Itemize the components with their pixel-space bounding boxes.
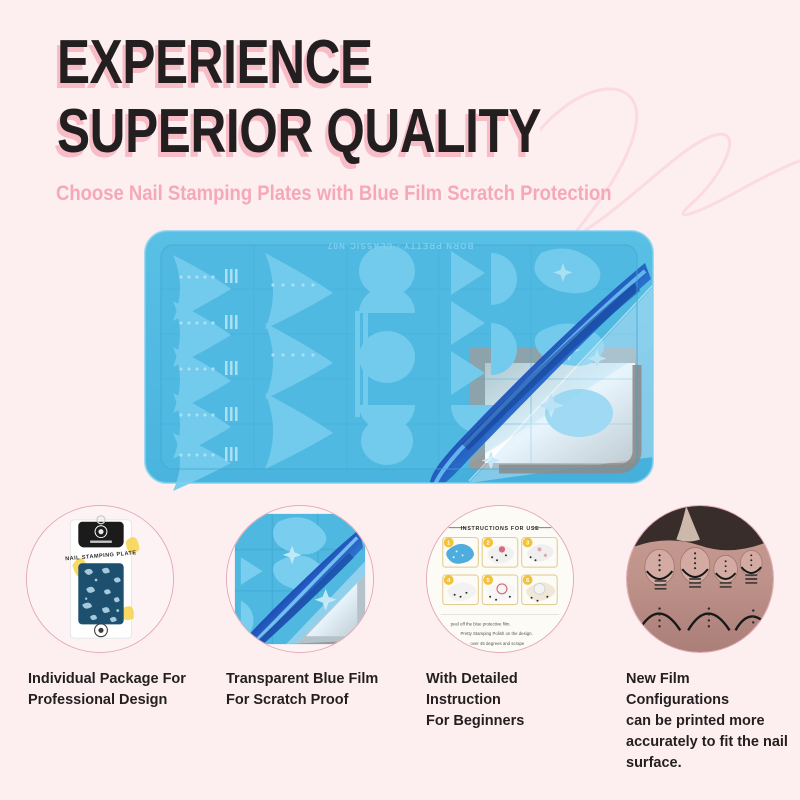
instruction-line: over 45 degrees and scrape [470, 641, 524, 646]
feature-individual-package: NAIL STAMPING PLATE [0, 505, 200, 774]
feature-transparent-film: Transparent Blue Film For Scratch Proof [200, 505, 400, 774]
caption-line-1: New Film Configurations [626, 669, 790, 711]
thumbnail-instruction-card[interactable]: INSTRUCTIONS FOR USE [426, 505, 574, 653]
caption-line-2: For Beginners [426, 711, 590, 732]
caption-line-4: surface. [626, 753, 790, 774]
feature-caption: Transparent Blue Film For Scratch Proof [210, 669, 390, 711]
subtitle: Choose Nail Stamping Plates with Blue Fi… [56, 182, 612, 206]
instruction-card-illustration: INSTRUCTIONS FOR USE [427, 506, 573, 652]
feature-caption: With Detailed Instruction For Beginners [410, 669, 590, 732]
feature-film-configurations: New Film Configurations can be printed m… [600, 505, 800, 774]
instructions-title-text: INSTRUCTIONS FOR USE [461, 526, 540, 532]
stamping-plate-illustration [139, 227, 661, 491]
hero-product-image: BORN PRETTY · CLASSIC-N07 [139, 227, 661, 491]
retail-package-illustration: NAIL STAMPING PLATE [27, 506, 173, 652]
feature-caption: Individual Package For Professional Desi… [10, 669, 190, 711]
thumbnail-nails-on-plate[interactable] [626, 505, 774, 653]
feature-detailed-instruction: INSTRUCTIONS FOR USE [400, 505, 600, 774]
feature-list: NAIL STAMPING PLATE [0, 505, 800, 774]
thumbnail-film-peel[interactable] [226, 505, 374, 653]
thumbnail-retail-package[interactable]: NAIL STAMPING PLATE [26, 505, 174, 653]
instruction-line: peel off the blue protective film. [451, 621, 511, 626]
caption-line-1: With Detailed Instruction [426, 669, 590, 711]
caption-line-2: Professional Design [28, 690, 190, 711]
caption-line-2: can be printed more [626, 711, 790, 732]
product-marketing-banner: EXPERIENCE SUPERIOR QUALITY Choose Nail … [0, 0, 800, 800]
instruction-line: Pretty Stamping Polish on the design. [461, 631, 533, 636]
nails-on-plate-photo [627, 506, 773, 652]
feature-caption: New Film Configurations can be printed m… [610, 669, 790, 774]
caption-line-1: Transparent Blue Film [226, 669, 390, 690]
headline-block: EXPERIENCE SUPERIOR QUALITY [57, 36, 757, 159]
headline-line-2: SUPERIOR QUALITY [57, 105, 617, 160]
caption-line-2: For Scratch Proof [226, 690, 390, 711]
caption-line-1: Individual Package For [28, 669, 190, 690]
headline-line-1: EXPERIENCE [57, 36, 617, 91]
film-peel-illustration [227, 506, 373, 652]
caption-line-3: accurately to fit the nail [626, 732, 790, 753]
